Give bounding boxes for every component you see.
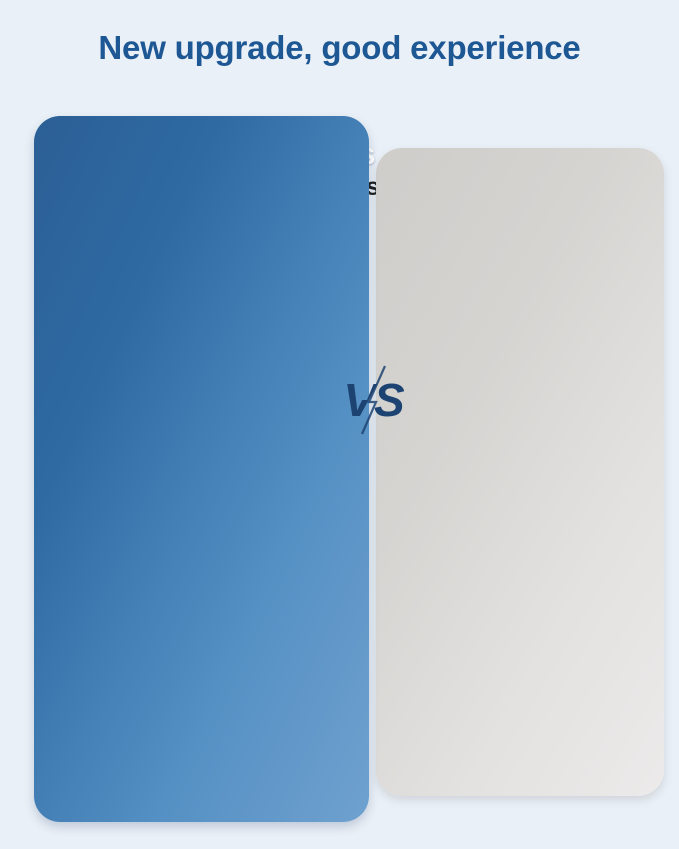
others-panel [376, 148, 664, 796]
page-title: New upgrade, good experience [0, 29, 679, 67]
vs-badge-label: VS [343, 374, 405, 426]
vs-badge: VS [340, 362, 408, 438]
ours-panel [34, 116, 369, 822]
